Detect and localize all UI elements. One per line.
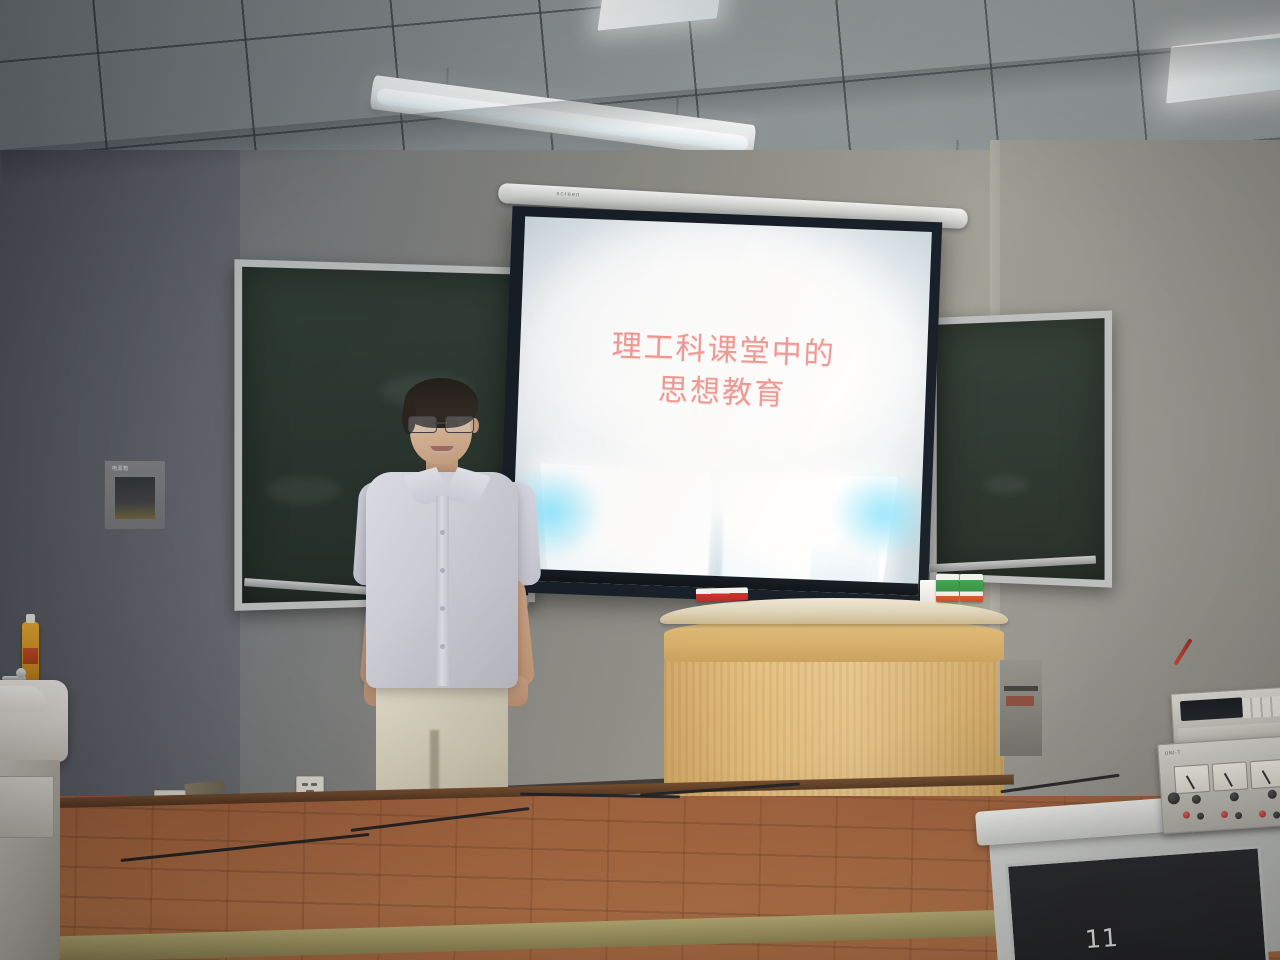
control-knob[interactable] <box>1230 792 1240 802</box>
banana-jack-negative[interactable] <box>1197 812 1204 819</box>
shirt-button <box>440 568 445 573</box>
bench-station-number: 11 <box>1084 923 1120 954</box>
analog-meter <box>1174 764 1211 794</box>
electrical-panel-box: 电源箱 <box>104 460 166 530</box>
electrical-panel-inner <box>115 477 155 519</box>
projection-screen: 理工科课堂中的 思想教育 <box>498 206 943 608</box>
box-green-2[interactable] <box>960 574 983 602</box>
banana-jack-positive[interactable] <box>1259 810 1266 817</box>
box-white[interactable] <box>920 580 937 602</box>
lab-bench-panel <box>1005 845 1269 960</box>
shirt-placket <box>436 496 449 686</box>
lectern-apron <box>664 618 1004 662</box>
cabinet-door[interactable] <box>0 776 54 838</box>
roller-end-cap <box>500 185 513 202</box>
chalkboard-right <box>930 310 1112 587</box>
control-knob[interactable] <box>1192 795 1202 805</box>
banana-jack-positive[interactable] <box>1183 811 1190 818</box>
slide-surface: 理工科课堂中的 思想教育 <box>511 216 932 595</box>
basin-bowl <box>0 686 46 712</box>
shirt-button <box>440 530 445 535</box>
wall-alcove <box>998 660 1042 756</box>
alcove-item <box>1006 696 1034 706</box>
electrical-panel-label: 电源箱 <box>112 465 129 472</box>
bottle-cap <box>26 614 35 623</box>
banana-jack-negative[interactable] <box>1235 812 1242 819</box>
classroom-photo: 电源箱 screen <box>0 0 1280 960</box>
instrument-display <box>1180 697 1243 721</box>
faucet-knob[interactable] <box>16 668 26 678</box>
slide-title-line-2: 思想教育 <box>518 364 926 422</box>
roller-brand-label: screen <box>556 191 580 198</box>
shirt-button <box>440 606 445 611</box>
dc-power-supply[interactable]: UNI-T <box>1157 736 1280 834</box>
glasses <box>408 416 474 432</box>
banana-jack-positive[interactable] <box>1221 811 1228 818</box>
analog-meter <box>1212 761 1249 791</box>
alcove-shelf <box>1004 686 1038 691</box>
analog-meter <box>1249 759 1280 789</box>
instrument-brand-label: UNI-T <box>1165 750 1182 757</box>
shirt-button <box>440 644 445 649</box>
lab-bench: 11 <box>975 812 1280 960</box>
wash-basin <box>0 680 68 762</box>
control-knob[interactable] <box>1167 792 1180 805</box>
slide-glow-accent-right <box>830 469 923 560</box>
chalk-box-red[interactable] <box>696 587 748 601</box>
instrument-keypad[interactable] <box>1242 696 1280 719</box>
slide-title: 理工科课堂中的 思想教育 <box>518 322 928 423</box>
banana-jack-negative[interactable] <box>1273 811 1280 818</box>
mouth <box>430 446 454 453</box>
under-sink-cabinet[interactable] <box>0 760 60 960</box>
glasses-lens-right <box>445 416 474 433</box>
box-green-1[interactable] <box>936 574 959 602</box>
control-knob[interactable] <box>1267 790 1277 800</box>
bottle-label <box>23 648 38 664</box>
glasses-lens-left <box>408 416 437 433</box>
slide-title-line-1: 理工科课堂中的 <box>611 328 836 372</box>
